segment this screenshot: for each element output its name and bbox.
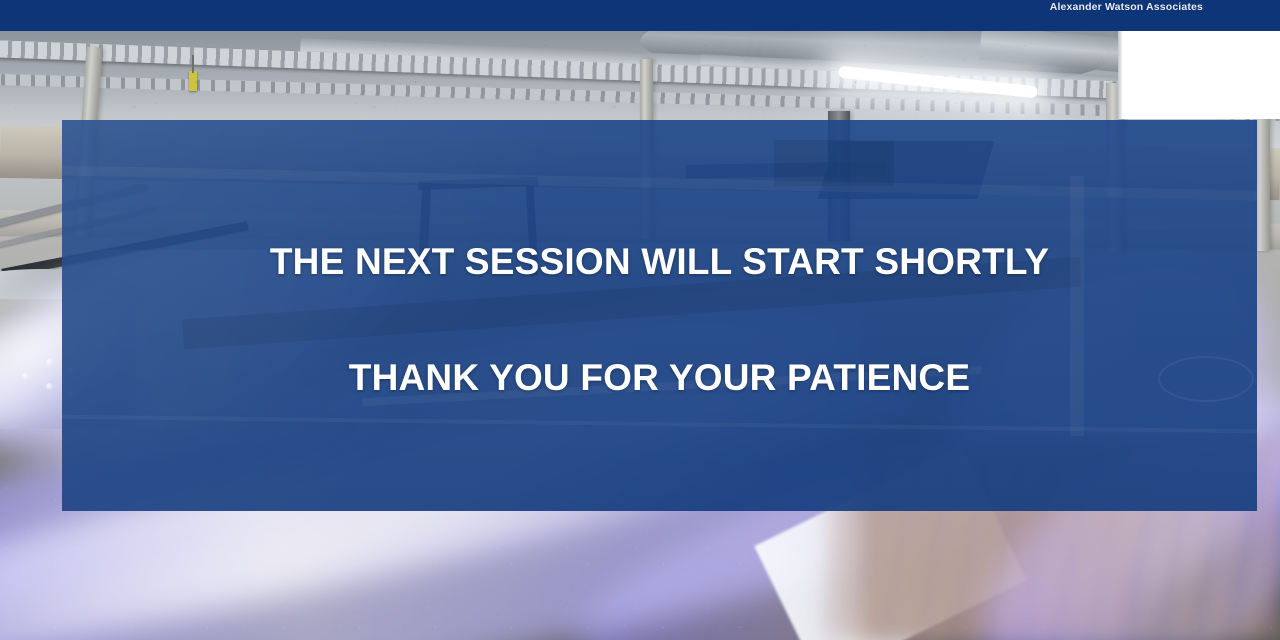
panel-ghost-divider (62, 415, 1257, 434)
content-overlay-panel: THE NEXT SESSION WILL START SHORTLY THAN… (62, 120, 1257, 511)
top-navy-bar: Alexander Watson Associates (0, 0, 1280, 31)
headline-primary: THE NEXT SESSION WILL START SHORTLY (62, 242, 1257, 282)
headline-secondary: THANK YOU FOR YOUR PATIENCE (62, 358, 1257, 398)
presentation-slide: THE NEXT SESSION WILL START SHORTLY THAN… (0, 0, 1280, 640)
panel-ghost-beam (62, 165, 1257, 200)
headline-group: THE NEXT SESSION WILL START SHORTLY THAN… (62, 234, 1257, 398)
slide-white-area (1118, 31, 1280, 119)
brand-name: Alexander Watson Associates (1050, 1, 1203, 13)
panel-ghost-block (774, 140, 894, 186)
